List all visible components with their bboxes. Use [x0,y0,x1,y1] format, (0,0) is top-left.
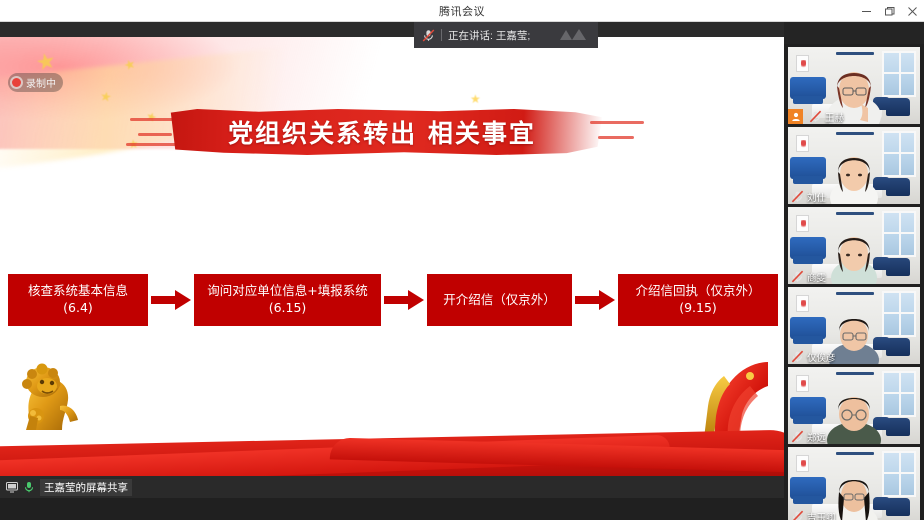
window-title: 腾讯会议 [439,3,485,19]
person-silhouette [823,386,885,444]
process-flowchart: 核查系统基本信息 (6.4) 询问对应单位信息+填报系统 (6.15) [8,269,784,331]
mic-off-icon [791,430,804,443]
participant-name: 仅俟彦 [807,350,836,364]
participant-namebar: 郑远 [788,429,830,444]
participant-tile-3[interactable]: 商雯 [788,207,920,284]
red-ribbon-decoration [0,410,784,480]
flow-step-4-line2: (9.15) [635,300,760,317]
participant-name: 商雯 [807,270,826,284]
flow-step-3: 开介绍信（仅京外） [427,274,572,326]
flow-arrow-3-icon [572,274,618,326]
recording-label: 录制中 [26,75,56,90]
mic-off-icon [791,190,804,203]
participant-namebar: 王赫 [788,109,848,124]
screen-share-label: 王嘉莹的屏幕共享 [40,479,132,496]
flow-step-3-line1: 开介绍信（仅京外） [443,292,556,309]
active-speaker-label: 正在讲话: 王嘉莹; [448,28,530,43]
recording-dot-icon [12,78,21,87]
monitor-icon [6,481,18,493]
participant-namebar: 商雯 [788,269,830,284]
active-speaker-pill: 正在讲话: 王嘉莹; [414,22,598,48]
participant-tile-2[interactable]: 刘仕 [788,127,920,204]
host-badge-icon [788,109,803,124]
flow-step-2-line1: 询问对应单位信息+填报系统 [207,283,367,300]
participant-tile-5[interactable]: 郑远 [788,367,920,444]
window-titlebar: 腾讯会议 [0,0,924,22]
brush-streak [598,136,634,139]
participant-name: 刘仕 [807,190,826,204]
flow-arrow-1-icon [148,274,194,326]
participant-namebar: 仅俟彦 [788,349,840,364]
flow-step-1: 核查系统基本信息 (6.4) [8,274,148,326]
mic-off-icon [791,510,804,520]
mic-off-icon [791,350,804,363]
participant-tile-1[interactable]: 王赫 [788,47,920,124]
person-silhouette [825,146,883,204]
flow-step-4-line1: 介绍信回执（仅京外） [635,283,760,300]
flow-arrow-2-icon [381,274,427,326]
participant-tile-6[interactable]: 吉玉卿 [788,447,920,520]
participant-video-strip[interactable]: 王赫 [784,44,924,520]
tencent-meeting-window: 腾讯会议 [0,0,924,520]
close-button[interactable] [901,0,924,22]
restore-button[interactable] [878,0,901,22]
flow-step-4: 介绍信回执（仅京外） (9.15) [618,274,778,326]
participant-namebar: 吉玉卿 [788,509,840,520]
mic-off-icon [791,270,804,283]
participant-name: 吉玉卿 [807,510,836,520]
recording-indicator: 录制中 [8,73,63,92]
flow-step-1-line1: 核查系统基本信息 [28,283,128,300]
flag-star-icon: ★ [470,92,481,106]
flow-step-1-line2: (6.4) [28,300,128,317]
participant-tile-4[interactable]: 仅俟彦 [788,287,920,364]
presentation-slide: ★ ★ ★ ★ ★ ★ 党组织关系转出 相关事宜 [0,37,784,480]
flow-step-2-line2: (6.15) [207,300,367,317]
shared-screen-region[interactable]: ★ ★ ★ ★ ★ ★ 党组织关系转出 相关事宜 [0,22,784,498]
slide-title: 党组织关系转出 相关事宜 [162,109,602,155]
letterbox-top [0,22,784,37]
screen-share-statusbar: 王嘉莹的屏幕共享 [0,476,784,498]
slide-title-ribbon: 党组织关系转出 相关事宜 [162,109,602,155]
mic-off-icon [422,29,435,42]
person-silhouette [826,224,882,284]
participant-name: 王赫 [825,110,844,124]
meeting-body: ★ ★ ★ ★ ★ ★ 党组织关系转出 相关事宜 [0,22,924,498]
mic-off-icon [809,110,822,123]
flow-step-2: 询问对应单位信息+填报系统 (6.15) [194,274,381,326]
participant-namebar: 刘仕 [788,189,830,204]
audio-wave-icon [560,28,590,42]
participant-name: 郑远 [807,430,826,444]
microphone-icon [23,481,35,493]
pill-divider [441,29,442,41]
window-controls [855,0,924,22]
minimize-button[interactable] [855,0,878,22]
